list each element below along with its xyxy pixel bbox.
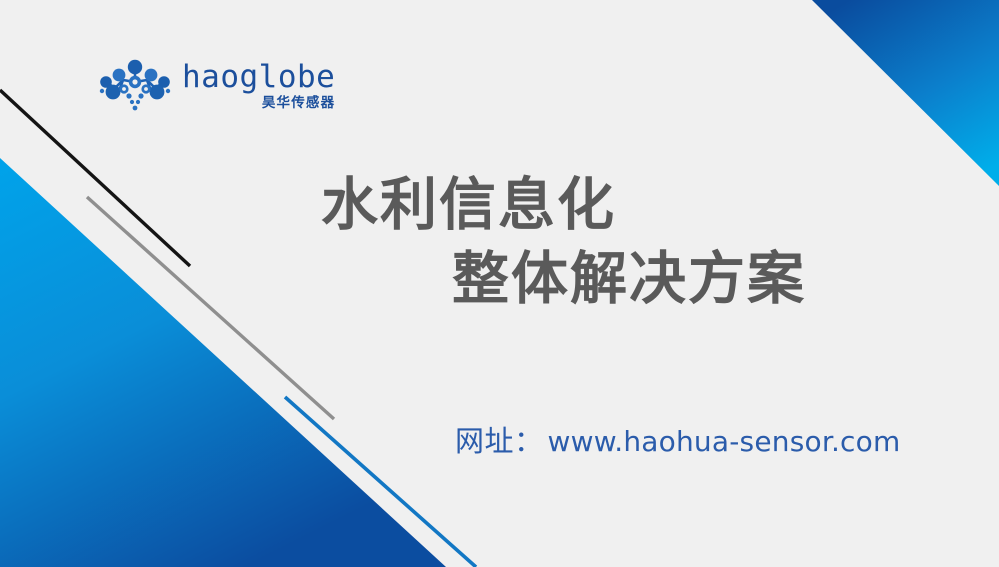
logo-wordmark: haoglobe 昊华传感器 — [182, 58, 335, 111]
top-right-blue-triangle — [812, 0, 999, 186]
haoglobe-network-dots-icon — [96, 58, 174, 114]
slide-title: 水利信息化 整体解决方案 — [0, 168, 999, 316]
title-line-1: 水利信息化 — [0, 168, 999, 242]
website-url[interactable]: www.haohua-sensor.com — [548, 425, 901, 458]
website-label: 网址： — [455, 418, 544, 460]
website-line: 网址： www.haohua-sensor.com — [455, 418, 900, 460]
logo-brand-name: haoglobe — [182, 61, 335, 94]
title-line-2: 整体解决方案 — [0, 242, 999, 316]
blue-diagonal-line — [285, 397, 476, 567]
logo-brand-subtitle: 昊华传感器 — [262, 95, 336, 111]
presentation-slide: haoglobe 昊华传感器 水利信息化 整体解决方案 网址： www.haoh… — [0, 0, 999, 567]
company-logo: haoglobe 昊华传感器 — [96, 58, 335, 114]
